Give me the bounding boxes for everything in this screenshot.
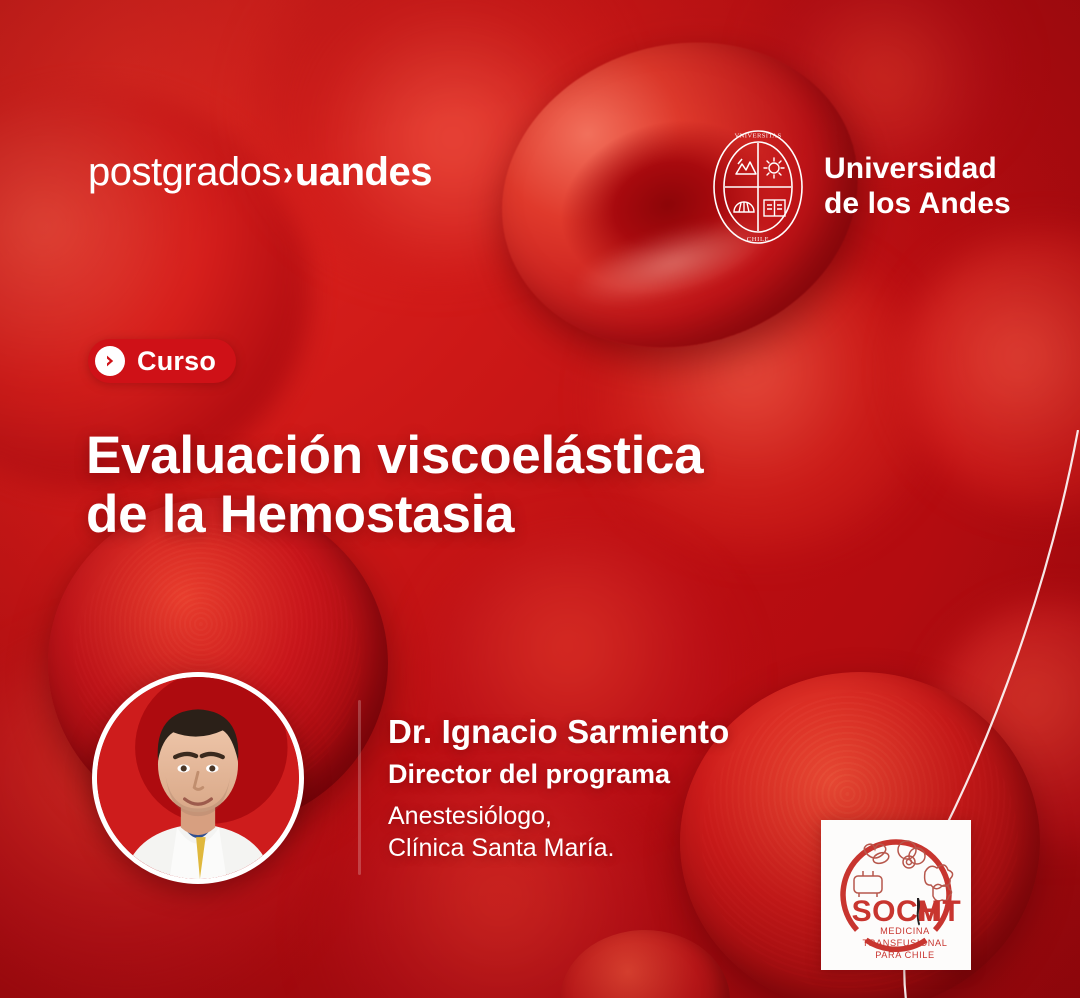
university-name: Universidad de los Andes: [824, 152, 1011, 222]
curso-badge[interactable]: Curso: [88, 339, 236, 383]
chevron-right-icon: [95, 346, 125, 376]
svg-text:MT: MT: [917, 895, 961, 928]
logo-word-uandes: uandes: [295, 152, 432, 192]
speaker-divider: [358, 700, 361, 875]
speaker-role: Director del programa: [388, 758, 729, 792]
svg-text:MEDICINA: MEDICINA: [880, 926, 930, 936]
course-title: Evaluación viscoelástica de la Hemostasi…: [86, 426, 846, 545]
speaker-affiliation: Anestesiólogo, Clínica Santa María.: [388, 800, 729, 865]
logo-word-postgrados: postgrados: [88, 152, 281, 192]
university-crest-icon: VNIVERSITAS · CHILE ·: [710, 128, 806, 246]
speaker-avatar: [92, 672, 304, 884]
svg-text:PARA CHILE: PARA CHILE: [875, 950, 934, 960]
promo-poster: postgrados › uandes: [0, 0, 1080, 998]
postgrados-uandes-logo[interactable]: postgrados › uandes: [88, 152, 432, 198]
svg-text:TRANSFUSIONAL: TRANSFUSIONAL: [863, 938, 948, 948]
universidad-de-los-andes-lockup[interactable]: VNIVERSITAS · CHILE · Universidad de los…: [710, 128, 1011, 246]
speaker-info: Dr. Ignacio Sarmiento Director del progr…: [388, 713, 729, 865]
logo-arrow-icon: ›: [283, 155, 293, 191]
sochimt-logo-icon: SOCH SOCH MT MEDICINA TRANSFUSIONAL PARA…: [821, 820, 971, 970]
speaker-name: Dr. Ignacio Sarmiento: [388, 713, 729, 752]
svg-text:· CHILE ·: · CHILE ·: [742, 236, 775, 243]
sochimt-logo[interactable]: SOCH SOCH MT MEDICINA TRANSFUSIONAL PARA…: [821, 820, 971, 970]
svg-text:VNIVERSITAS: VNIVERSITAS: [734, 133, 781, 140]
speaker-portrait-icon: [97, 677, 299, 879]
curso-badge-label: Curso: [137, 346, 216, 377]
